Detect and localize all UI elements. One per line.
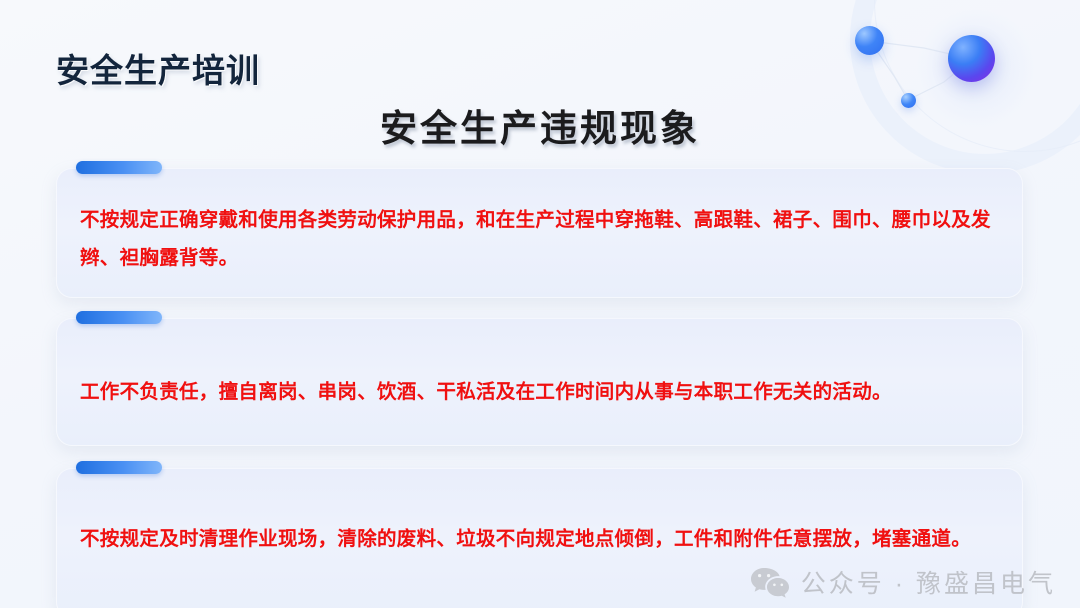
slide-kicker-title: 安全生产培训: [56, 44, 260, 92]
slide-canvas: 安全生产培训 安全生产违规现象 不按规定正确穿戴和使用各类劳动保护用品，和在生产…: [0, 0, 1080, 608]
decorative-artwork: [820, 0, 1080, 190]
sphere-large-icon: [948, 35, 995, 82]
card-text: 工作不负责任，擅自离岗、串岗、饮酒、干私活及在工作时间内从事与本职工作无关的活动…: [80, 373, 999, 411]
content-card: 不按规定正确穿戴和使用各类劳动保护用品，和在生产过程中穿拖鞋、高跟鞋、裙子、围巾…: [56, 168, 1023, 298]
connector-lines-icon: [820, 0, 1080, 190]
card-text: 不按规定及时清理作业现场，清除的废料、垃圾不向规定地点倾倒，工件和附件任意摆放，…: [80, 520, 999, 558]
sphere-medium-icon: [855, 26, 884, 55]
card-accent-tab: [76, 161, 162, 174]
card-accent-tab: [76, 311, 162, 324]
content-card: 不按规定及时清理作业现场，清除的废料、垃圾不向规定地点倾倒，工件和附件任意摆放，…: [56, 468, 1023, 608]
content-card: 工作不负责任，擅自离岗、串岗、饮酒、干私活及在工作时间内从事与本职工作无关的活动…: [56, 318, 1023, 446]
card-text: 不按规定正确穿戴和使用各类劳动保护用品，和在生产过程中穿拖鞋、高跟鞋、裙子、围巾…: [80, 201, 999, 277]
page-title: 安全生产违规现象: [0, 98, 1080, 152]
card-accent-tab: [76, 461, 162, 474]
